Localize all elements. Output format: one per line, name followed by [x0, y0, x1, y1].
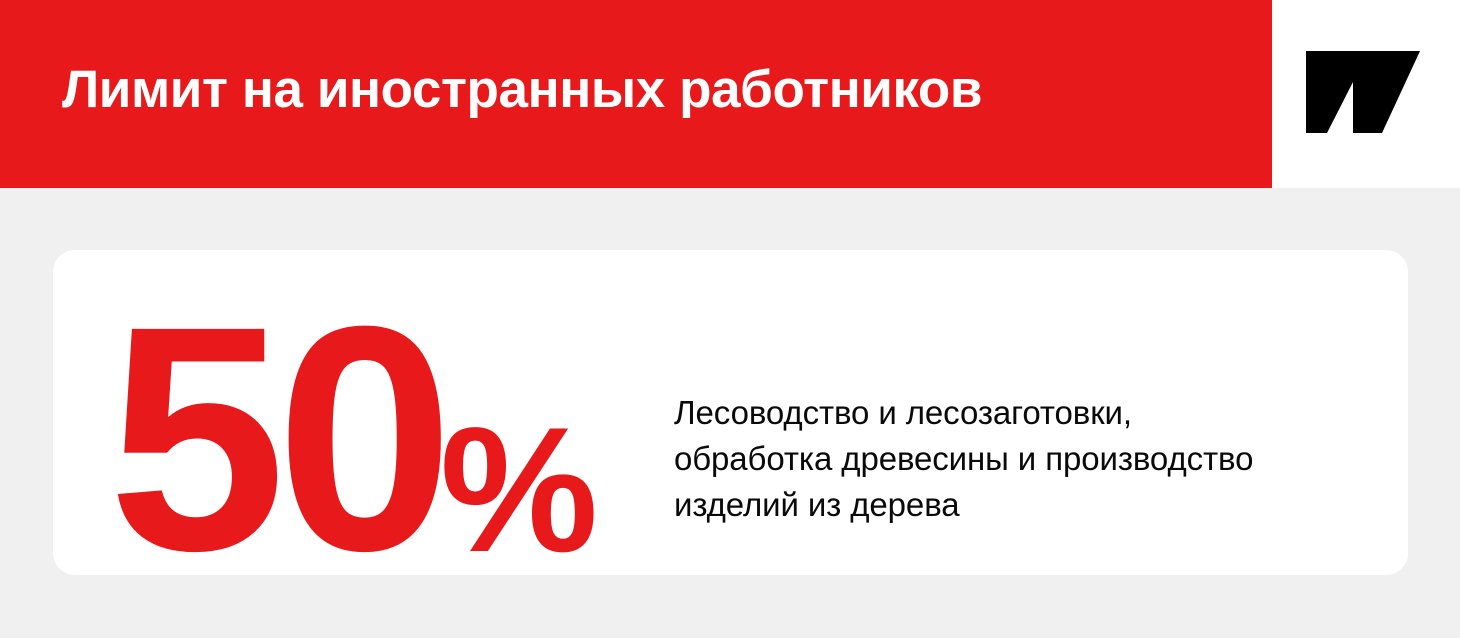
stat-value: 50: [108, 317, 444, 560]
stat-card: 50 % Лесоводство и лесозаготовки, обрабо…: [53, 250, 1408, 575]
stat-label-line-1: Лесоводство и лесозаготовки,: [674, 390, 1394, 436]
infographic-root: Лимит на иностранных работников 50 % Лес…: [0, 0, 1460, 638]
stat-label-line-3: изделий из дерева: [674, 482, 1394, 528]
stat-unit-percent: %: [440, 419, 594, 560]
vedomosti-w-logo-icon: [1306, 51, 1420, 133]
header-banner: Лимит на иностранных работников: [0, 0, 1272, 188]
stat-card-inner: 50 % Лесоводство и лесозаготовки, обрабо…: [53, 250, 1408, 575]
stat-figure: 50 %: [108, 260, 594, 560]
page-title: Лимит на иностранных работников: [62, 57, 1242, 123]
stat-label: Лесоводство и лесозаготовки, обработка д…: [674, 390, 1394, 528]
stat-label-line-2: обработка древесины и производство: [674, 436, 1394, 482]
